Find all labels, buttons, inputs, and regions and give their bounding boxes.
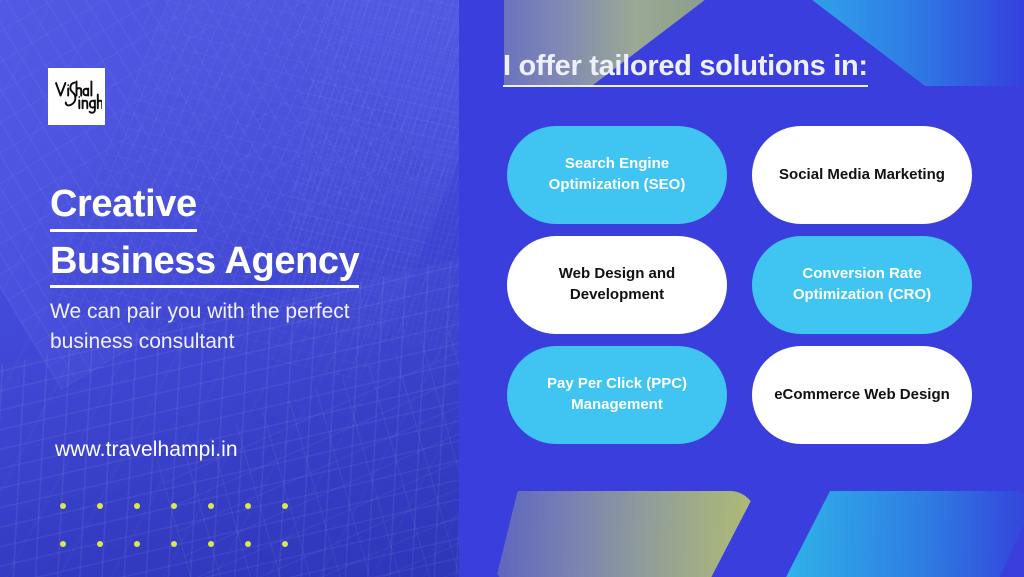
service-pill-ppc[interactable]: Pay Per Click (PPC) Management [507,346,727,444]
headline-line-2: Business Agency [50,238,359,289]
left-panel: Creative Business Agency We can pair you… [0,0,459,577]
promo-poster: Creative Business Agency We can pair you… [0,0,1024,577]
grid-dot [208,503,214,509]
grid-dot [97,541,103,547]
brand-logo[interactable] [48,68,105,125]
bottom-right-gradient-shape [781,491,1024,577]
headline-line-1: Creative [50,181,197,232]
top-band-left-notch [459,0,504,86]
grid-dot [171,541,177,547]
grid-dot [282,503,288,509]
grid-dot [245,503,251,509]
website-url[interactable]: www.travelhampi.in [55,438,238,462]
services-heading: I offer tailored solutions in: [503,50,868,87]
service-pill-seo[interactable]: Search Engine Optimization (SEO) [507,126,727,224]
service-pill-social-media[interactable]: Social Media Marketing [752,126,972,224]
services-list: Search Engine Optimization (SEO) Social … [507,126,977,444]
grid-dot [60,541,66,547]
dot-grid-decoration [60,503,319,577]
grid-dot [171,503,177,509]
service-pill-ecommerce[interactable]: eCommerce Web Design [752,346,972,444]
right-panel: I offer tailored solutions in: Search En… [459,0,1024,577]
service-pill-web-design[interactable]: Web Design and Development [507,236,727,334]
grid-dot [245,541,251,547]
service-pill-cro[interactable]: Conversion Rate Optimization (CRO) [752,236,972,334]
bottom-left-gradient-shape [494,491,756,577]
subheadline: We can pair you with the perfect busines… [50,297,410,357]
grid-dot [60,503,66,509]
grid-dot [97,503,103,509]
grid-dot [134,541,140,547]
grid-dot [282,541,288,547]
grid-dot [208,541,214,547]
signature-logo-icon [52,75,102,119]
headline: Creative Business Agency [50,181,450,294]
grid-dot [134,503,140,509]
